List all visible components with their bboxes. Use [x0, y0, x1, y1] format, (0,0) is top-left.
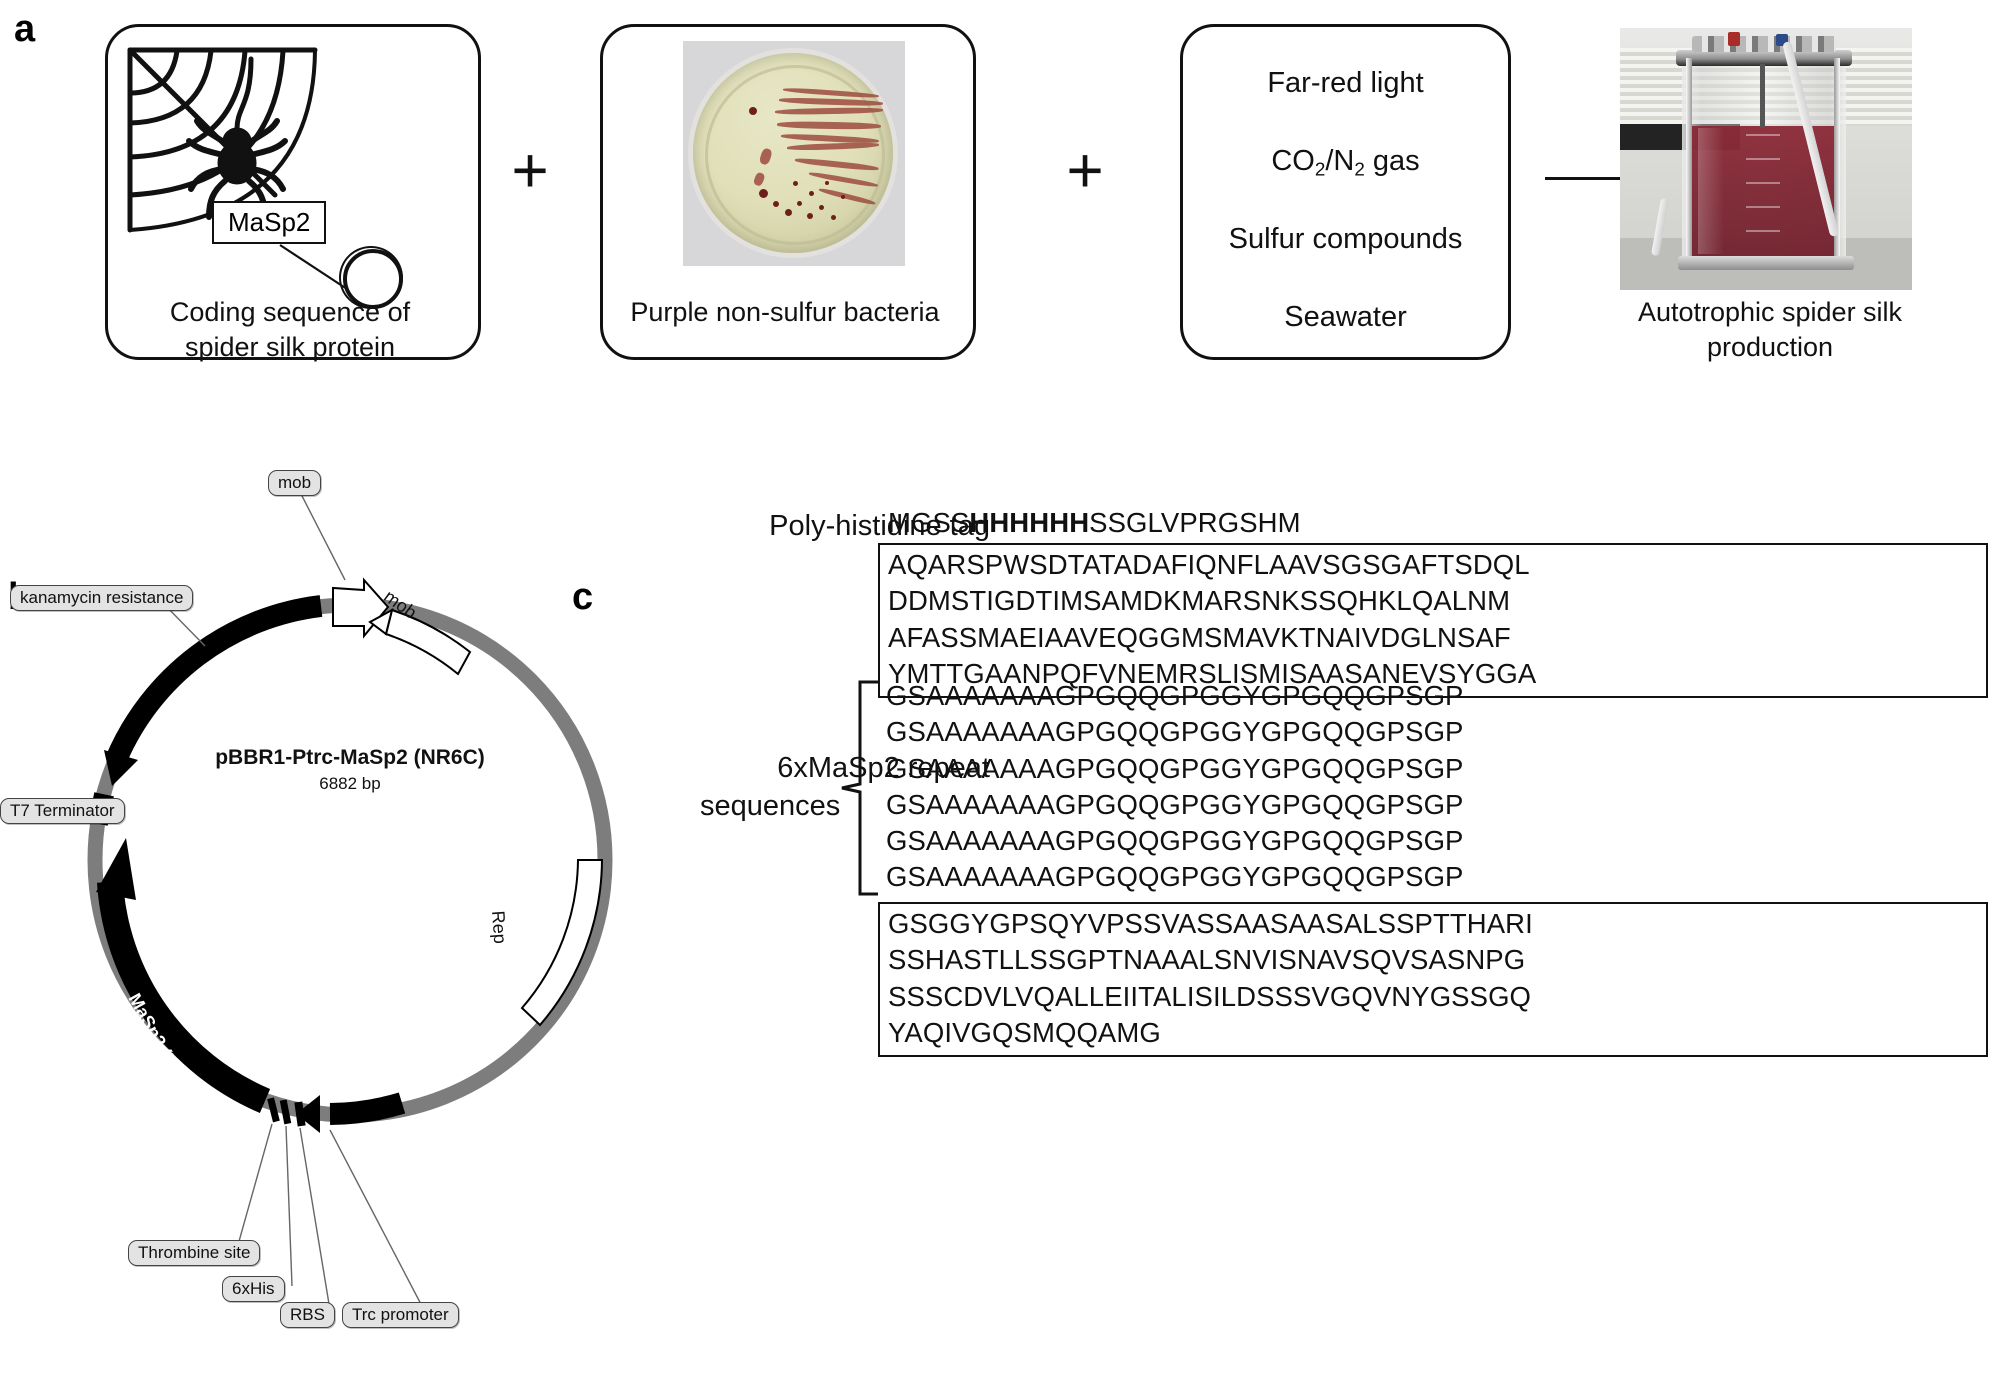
seq-segment-post: SSGLVPRGSHM [1089, 507, 1300, 538]
bacterial-colony [797, 201, 802, 206]
ctd-line-2: SSHASTLLSSGPTNAAALSNVISNAVSQVSASNPG [888, 942, 1978, 978]
repeat-line-3: GSAAAAAAAGPGQQGPGGYGPGQQGPSGP [886, 751, 1464, 787]
flow-box-2-caption: Purple non-sulfur bacteria [600, 295, 970, 330]
plasmid-map-diagram [0, 430, 760, 1376]
plasmid-name-label: pBBR1-Ptrc-MaSp2 (NR6C) [170, 746, 530, 770]
bacterial-colony [831, 215, 836, 220]
map-label-thrombine-site[interactable]: Thrombine site [128, 1240, 260, 1266]
bacterial-colony [807, 213, 813, 219]
bioreactor-photo [1620, 28, 1912, 290]
bacterial-colony [809, 191, 814, 196]
graduation-marks [1746, 134, 1780, 254]
bacterial-colony [841, 195, 845, 199]
ntd-line-3: AFASSMAEIAAVEQGGMSMAVKTNAIVDGLNSAF [888, 620, 1978, 656]
flow-box-conditions: Far-red light CO2/N2 gas Sulfur compound… [1180, 24, 1511, 360]
map-inline-label-rep: Rep [487, 910, 510, 944]
repeat-line-2: GSAAAAAAAGPGQQGPGGYGPGQQGPSGP [886, 714, 1464, 750]
headplate-ports [1692, 36, 1836, 52]
seq-segment-his: HHHHHH [969, 507, 1089, 538]
map-label-rbs[interactable]: RBS [280, 1302, 335, 1328]
bacterial-colony [793, 181, 798, 186]
plus-operator-1: + [500, 140, 560, 200]
caption-line-1: Coding sequence of [105, 295, 475, 330]
bacterial-colony [819, 205, 824, 210]
panel-letter-c: c [572, 578, 593, 616]
caption-line-2: production [1600, 330, 1940, 365]
map-label-6xhis[interactable]: 6xHis [222, 1276, 285, 1302]
map-label-t7-terminator[interactable]: T7 Terminator [0, 798, 125, 824]
sequence-box-ntd: AQARSPWSDTATADAFIQNFLAAVSGSGAFTSDQL DDMS… [878, 543, 1988, 698]
bacterial-colony [785, 209, 792, 216]
ctd-line-4: YAQIVGQSMQQAMG [888, 1015, 1978, 1051]
seq-segment-pre: MGSS [888, 507, 969, 538]
plus-operator-2: + [1055, 140, 1115, 200]
repeat-line-5: GSAAAAAAAGPGQQGPGGYGPGQQGPSGP [886, 823, 1464, 859]
base-ring [1678, 256, 1854, 270]
feature-trc-promoter [296, 1095, 402, 1133]
condition-far-red-light: Far-red light [1183, 67, 1508, 100]
impeller-shaft [1760, 64, 1765, 128]
repeat-brace [838, 680, 882, 896]
panel-a-workflow: MaSp2 Coding sequence of spider silk pro… [0, 0, 2000, 420]
sequence-box-ctd: GSGGYGPSQYVPSSVASSAASAASALSSPTTHARI SSHA… [878, 902, 1988, 1057]
sequence-block-repeats: GSAAAAAAAGPGQQGPGGYGPGQQGPSGP GSAAAAAAAG… [886, 678, 1464, 896]
plasmid-size-label: 6882 bp [170, 774, 530, 794]
sequence-polyhistidine-tag: MGSSHHHHHHSSGLVPRGSHM [880, 505, 1309, 541]
map-label-mob[interactable]: mob [268, 470, 321, 496]
bacterial-colony [759, 189, 768, 198]
flow-box-1-caption: Coding sequence of spider silk protein [105, 295, 475, 365]
condition-co2-n2-gas: CO2/N2 gas [1183, 145, 1508, 180]
repeat-line-6: GSAAAAAAAGPGQQGPGGYGPGQQGPSGP [886, 859, 1464, 895]
repeat-line-4: GSAAAAAAAGPGQQGPGGYGPGQQGPSGP [886, 787, 1464, 823]
condition-seawater: Seawater [1183, 301, 1508, 334]
repeat-line-1: GSAAAAAAAGPGQQGPGGYGPGQQGPSGP [886, 678, 1464, 714]
map-label-trc-promoter[interactable]: Trc promoter [342, 1302, 459, 1328]
panel-c-protein-sequence: Poly-histidine tag MGSSHHHHHHSSGLVPRGSHM… [740, 430, 2000, 1376]
ntd-line-2: DDMSTIGDTIMSAMDKMARSNKSSQHKLQALNM [888, 583, 1978, 619]
port-red [1728, 32, 1740, 46]
ctd-line-1: GSGGYGPSQYVPSSVASSAASAASALSSPTTHARI [888, 906, 1978, 942]
caption-line-1: Autotrophic spider silk [1600, 295, 1940, 330]
flow-box-4-caption: Autotrophic spider silk production [1600, 295, 1940, 365]
bacterial-colony [773, 201, 779, 207]
vessel-post-left [1686, 58, 1692, 262]
condition-sulfur-compounds: Sulfur compounds [1183, 223, 1508, 256]
agar-plate-photo [683, 41, 905, 266]
ntd-line-1: AQARSPWSDTATADAFIQNFLAAVSGSGAFTSDQL [888, 547, 1978, 583]
arrow-line [1545, 177, 1627, 180]
broth-highlight [1698, 128, 1724, 254]
caption-line-2: spider silk protein [105, 330, 475, 365]
bacterial-colony [825, 181, 829, 185]
bacterial-colony [749, 107, 757, 115]
ctd-line-3: SSSCDVLVQALLEIITALISILDSSSVGQVNYGSSGQ [888, 979, 1978, 1015]
panel-b-plasmid-map: pBBR1-Ptrc-MaSp2 (NR6C) 6882 bp mob kana… [0, 430, 760, 1376]
map-label-kanamycin-resistance[interactable]: kanamycin resistance [10, 585, 193, 611]
masp2-gene-label: MaSp2 [212, 201, 326, 244]
